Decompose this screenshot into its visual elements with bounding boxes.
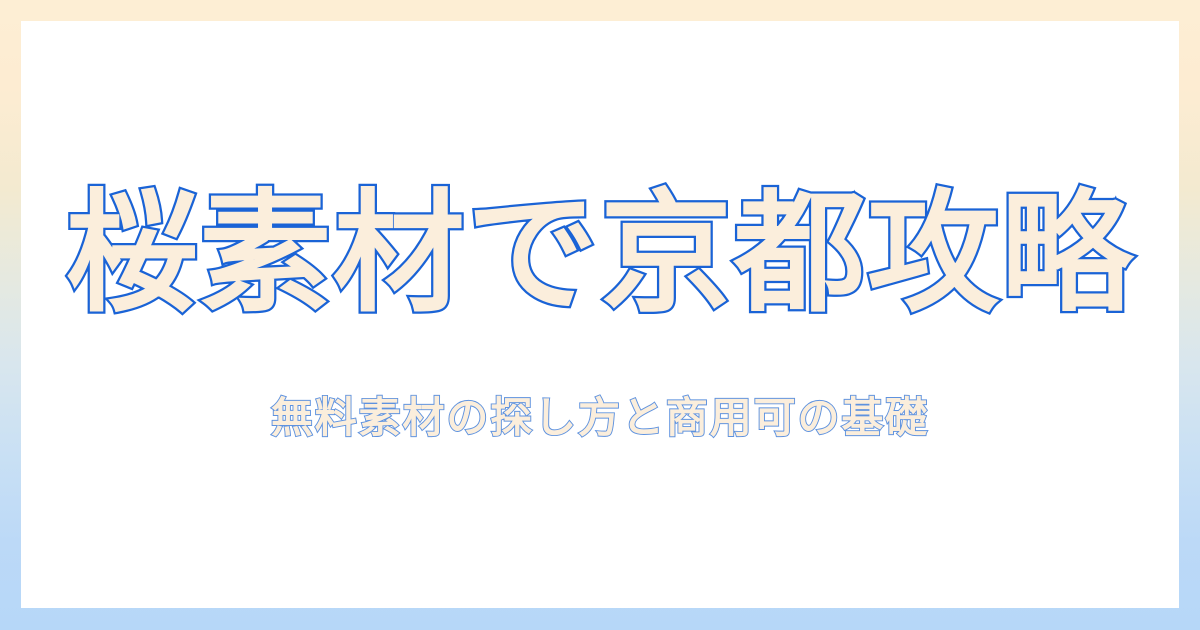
card-stage: 桜素材で京都攻略 無料素材の探し方と商用可の基礎 [21,21,1179,608]
page-title: 桜素材で京都攻略 [66,181,1135,329]
ogp-card: 桜素材で京都攻略 無料素材の探し方と商用可の基礎 [0,0,1200,630]
headline-row: 桜素材で京都攻略 [21,181,1179,329]
page-subtitle: 無料素材の探し方と商用可の基礎 [271,393,929,443]
subtitle-row: 無料素材の探し方と商用可の基礎 [21,393,1179,443]
